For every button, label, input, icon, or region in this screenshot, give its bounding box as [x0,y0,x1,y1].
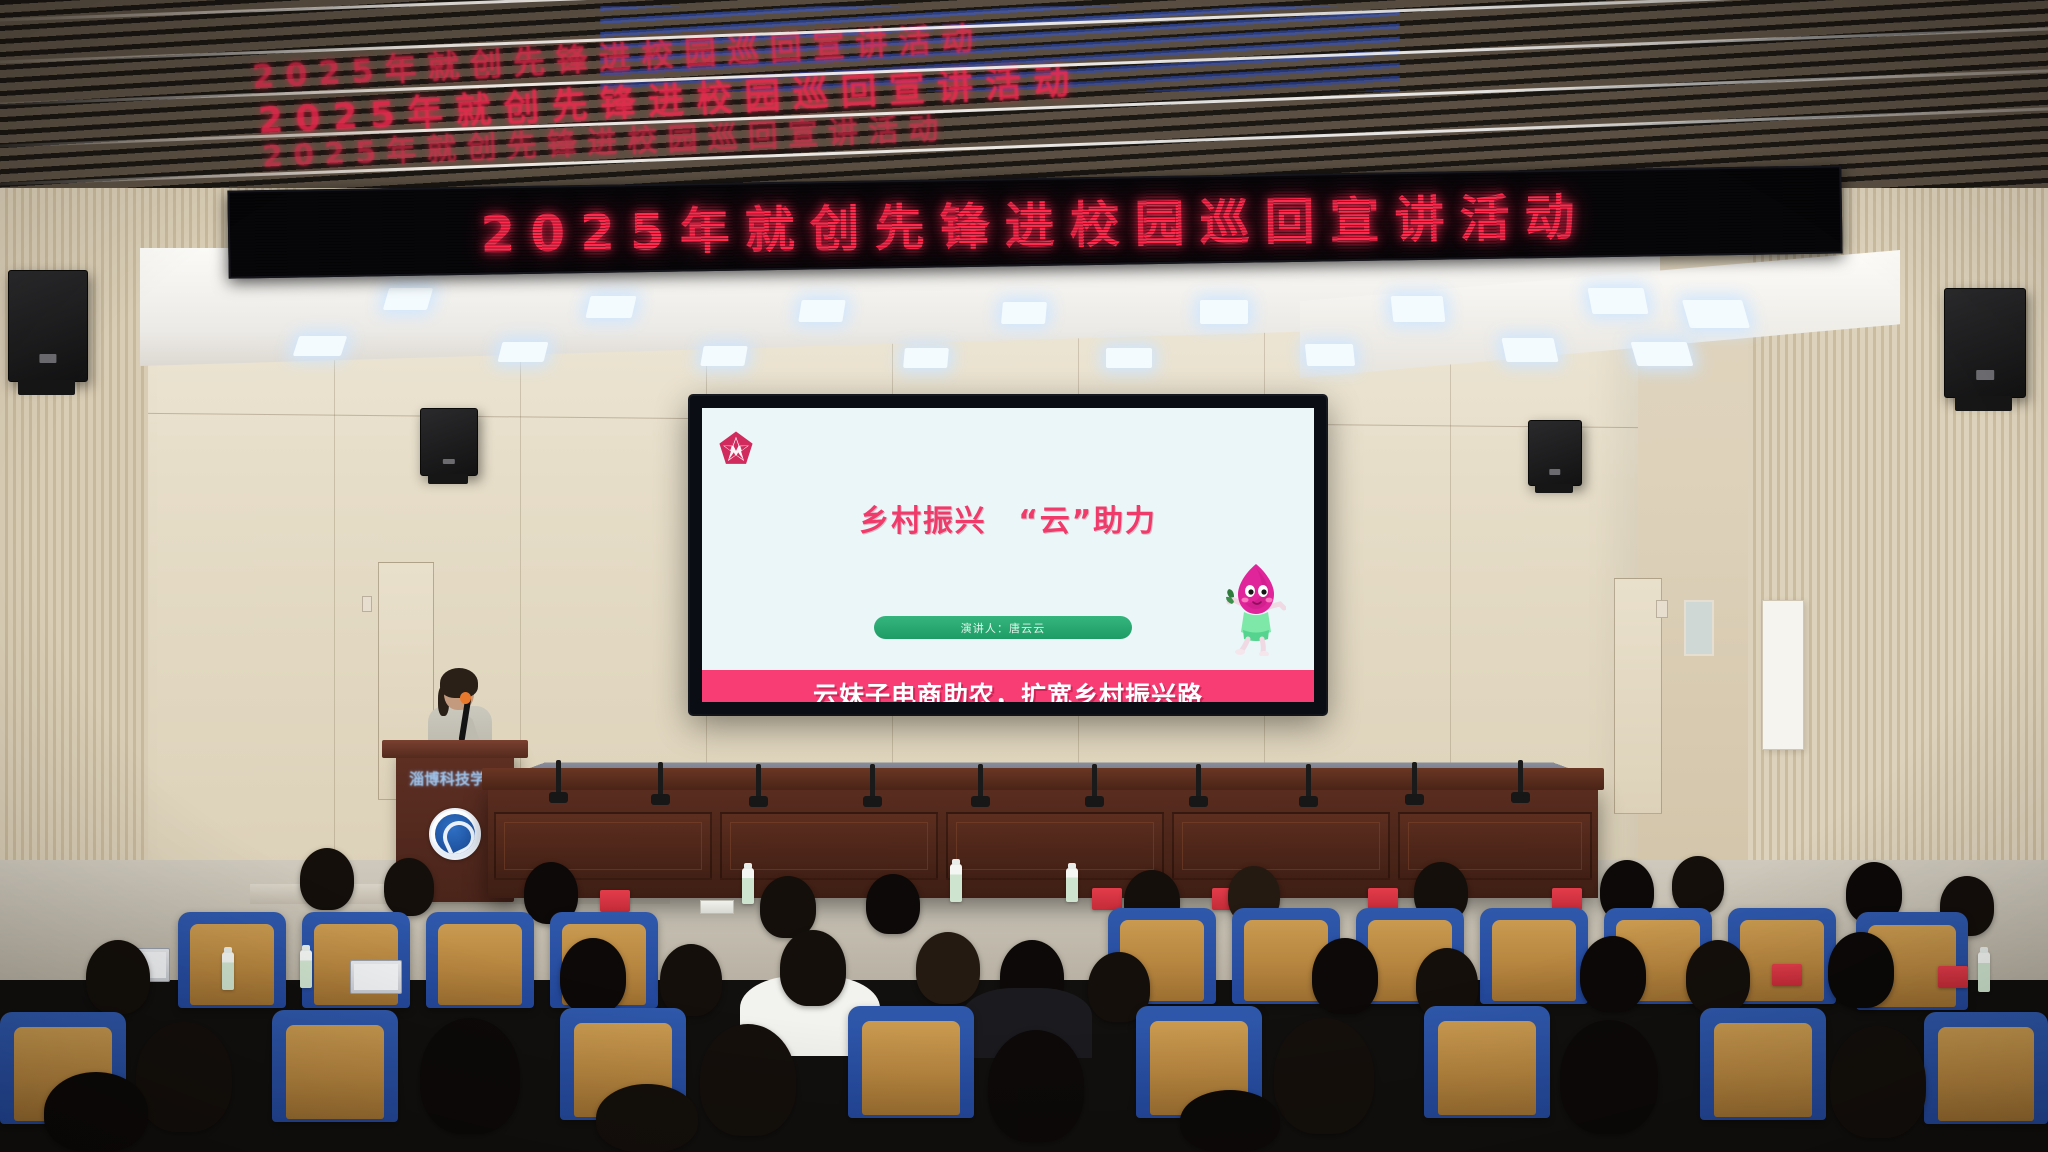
audience-chair[interactable] [1700,1008,1826,1120]
wall-speaker-left-outer [8,270,88,382]
wall-plate-left [362,596,372,612]
led-banner-text: 2025年就创先锋进校园巡回宣讲活动 [230,173,1841,270]
door-window-right [1684,600,1714,656]
laptop[interactable] [350,960,402,994]
sweet-potato-mascot [1226,560,1286,656]
audience-chair[interactable] [848,1006,974,1118]
audience-chair[interactable] [1424,1006,1550,1118]
slide-bottom-banner: 云妹子电商助农，扩宽乡村振兴路 [702,670,1314,702]
slide-bottom-banner-text: 云妹子电商助农，扩宽乡村振兴路 [813,676,1203,702]
microphone-head [460,692,471,704]
audience-chair[interactable] [426,912,534,1008]
pentagon-star-logo [718,430,754,466]
university-emblem [429,808,481,860]
slide-title: 乡村振兴 “云”助力 [702,496,1314,540]
wall-speaker-right-inner [1528,420,1582,486]
wall-plate-right [1656,600,1668,618]
lecture-hall-scene: 2025年就创先锋进校园巡回宣讲活动 2025年就创先锋进校园巡回宣讲活动 20… [0,0,2048,1152]
projection-screen[interactable]: 乡村振兴 “云”助力 演讲人：唐云云 [690,396,1326,714]
slide-speaker-pill: 演讲人：唐云云 [874,616,1132,639]
audience-chair[interactable] [1924,1012,2048,1124]
presentation-slide: 乡村振兴 “云”助力 演讲人：唐云云 [702,408,1314,702]
audience-chair[interactable] [1480,908,1588,1004]
stage-door-right[interactable] [1614,578,1662,814]
audience-chair[interactable] [272,1010,398,1122]
wall-notice-board [1762,600,1804,750]
wall-speaker-right-outer [1944,288,2026,398]
slide-speaker-label: 演讲人：唐云云 [961,620,1046,636]
wall-speaker-left-inner [420,408,478,476]
